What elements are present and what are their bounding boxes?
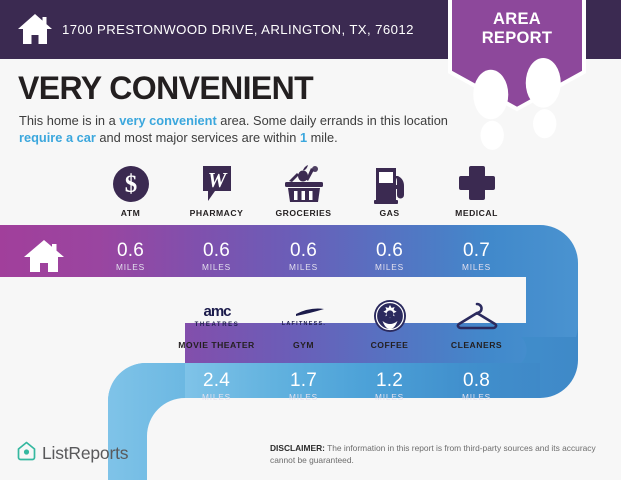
distance-value: 1.7	[260, 370, 347, 391]
dollar-circle-icon: $	[87, 164, 174, 204]
svg-text:THEATRES: THEATRES	[194, 322, 239, 328]
amenity-label: PHARMACY	[173, 208, 260, 218]
desc-highlight-2: require a car	[19, 130, 96, 145]
amenity-coffee: COFFEE	[346, 296, 433, 350]
property-address: 1700 PRESTONWOOD DRIVE, ARLINGTON, TX, 7…	[62, 22, 414, 37]
distance-value: 0.6	[173, 240, 260, 261]
area-report-badge: AREA REPORT	[447, 0, 587, 112]
distance-cell-cleaners: 0.8 MILES	[433, 370, 520, 402]
amenity-icon-row-2: amc THEATRES MOVIE THEATER LAFITNESS. GY…	[0, 296, 621, 358]
house-icon	[17, 12, 53, 46]
svg-text:amc: amc	[203, 303, 231, 320]
starbucks-icon	[346, 296, 433, 336]
desc-part-1: This home is in a	[19, 113, 119, 128]
footprints-icon	[447, 54, 587, 170]
amenity-label: CLEANERS	[433, 340, 520, 350]
distance-cell-movie-theater: 2.4 MILES	[173, 370, 260, 402]
desc-highlight-3: 1	[300, 130, 307, 145]
page-description: This home is in a very convenient area. …	[19, 112, 449, 146]
distance-cell-medical: 0.7 MILES	[433, 240, 520, 272]
amenity-label: GAS	[346, 208, 433, 218]
amenity-label: GROCERIES	[260, 208, 347, 218]
page-title: VERY CONVENIENT	[18, 70, 313, 107]
listreports-house-icon	[17, 441, 36, 466]
desc-part-2: area. Some daily errands in this locatio…	[217, 113, 448, 128]
amenity-gym: LAFITNESS. GYM	[260, 296, 347, 350]
distance-cell-groceries: 0.6 MILES	[260, 240, 347, 272]
amenity-medical: MEDICAL	[433, 164, 520, 218]
svg-text:LAFITNESS.: LAFITNESS.	[281, 321, 325, 327]
amenity-label: ATM	[87, 208, 174, 218]
amenity-movie-theater: amc THEATRES MOVIE THEATER	[173, 296, 260, 350]
amenity-icon-row-1: $ ATM W PHARMACY	[0, 164, 621, 228]
walgreens-w-icon: W	[173, 164, 260, 204]
desc-part-4: mile.	[307, 130, 338, 145]
distance-cell-gas: 0.6 MILES	[346, 240, 433, 272]
desc-part-3: and most major services are within	[96, 130, 300, 145]
amenity-cleaners: CLEANERS	[433, 296, 520, 350]
distance-cell-atm: 0.6 MILES	[87, 240, 174, 272]
amenity-label: MOVIE THEATER	[173, 340, 260, 350]
distance-value: 0.7	[433, 240, 520, 261]
amenity-groceries: GROCERIES	[260, 164, 347, 218]
distance-unit: MILES	[433, 262, 520, 272]
distance-value: 0.6	[87, 240, 174, 261]
distance-value: 0.6	[260, 240, 347, 261]
distance-cell-gym: 1.7 MILES	[260, 370, 347, 402]
medical-cross-icon	[433, 164, 520, 204]
disclaimer: DISCLAIMER: The information in this repo…	[270, 443, 600, 466]
badge-line-2: REPORT	[447, 29, 587, 48]
grocery-basket-icon	[260, 164, 347, 204]
distance-unit: MILES	[346, 392, 433, 402]
distance-unit: MILES	[260, 392, 347, 402]
la-fitness-icon: LAFITNESS.	[260, 296, 347, 336]
svg-text:$: $	[124, 171, 137, 198]
badge-line-1: AREA	[447, 10, 587, 29]
area-report-page: 1700 PRESTONWOOD DRIVE, ARLINGTON, TX, 7…	[0, 0, 621, 480]
amenity-atm: $ ATM	[87, 164, 174, 218]
amenity-pharmacy: W PHARMACY	[173, 164, 260, 218]
distance-unit: MILES	[433, 392, 520, 402]
desc-highlight-1: very convenient	[119, 113, 216, 128]
amenity-label: GYM	[260, 340, 347, 350]
distance-value: 1.2	[346, 370, 433, 391]
listreports-wordmark: ListReports	[42, 443, 128, 464]
distance-value: 0.8	[433, 370, 520, 391]
distance-unit: MILES	[87, 262, 174, 272]
distance-unit: MILES	[173, 392, 260, 402]
amenity-label: MEDICAL	[433, 208, 520, 218]
svg-text:W: W	[207, 168, 227, 192]
distance-value: 0.6	[346, 240, 433, 261]
distance-unit: MILES	[173, 262, 260, 272]
amenity-label: COFFEE	[346, 340, 433, 350]
amenity-gas: GAS	[346, 164, 433, 218]
listreports-logo[interactable]: ListReports	[17, 441, 128, 466]
distance-cell-coffee: 1.2 MILES	[346, 370, 433, 402]
clothes-hanger-icon	[433, 296, 520, 336]
distance-unit: MILES	[260, 262, 347, 272]
gas-pump-icon	[346, 164, 433, 204]
home-icon	[22, 238, 66, 274]
distance-value: 2.4	[173, 370, 260, 391]
disclaimer-label: DISCLAIMER:	[270, 443, 325, 453]
badge-title: AREA REPORT	[447, 10, 587, 48]
distance-unit: MILES	[346, 262, 433, 272]
amc-theatres-icon: amc THEATRES	[173, 296, 260, 336]
distance-cell-pharmacy: 0.6 MILES	[173, 240, 260, 272]
